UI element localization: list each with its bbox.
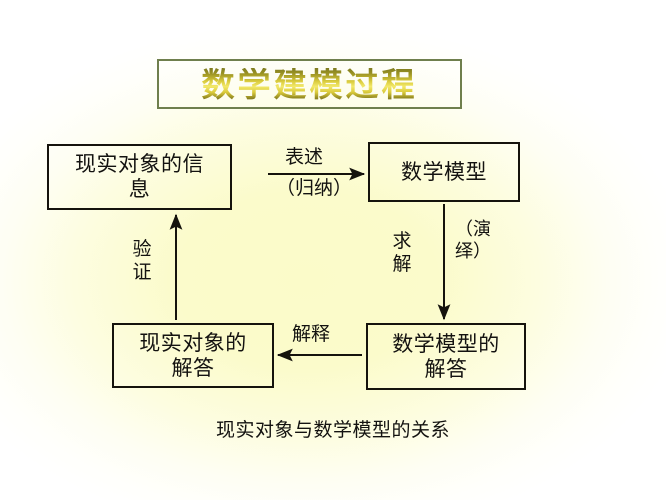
node-label: 现实对象的解答 [131,331,255,381]
node-label: 数学模型 [397,160,491,185]
arrow-label-verify: 验证 [131,238,153,284]
diagram-canvas: 数学建模过程 现实对象的信息 数学模型 现实对象的解答 数学模型的解答 表述 （… [0,0,666,500]
page-title: 数学建模过程 [202,68,418,101]
arrow-label-express: 表述 [285,147,323,168]
arrow-label-induction: （归纳） [276,178,352,199]
node-label: 现实对象的信息 [67,152,212,202]
node-label: 数学模型的解答 [384,332,508,382]
diagram-caption: 现实对象与数学模型的关系 [0,415,666,442]
title-box: 数学建模过程 [157,59,462,109]
node-math-model[interactable]: 数学模型 [368,142,520,202]
node-math-model-answer[interactable]: 数学模型的解答 [366,323,526,390]
node-real-object-info[interactable]: 现实对象的信息 [47,144,232,210]
arrow-label-deduction: （演绎） [455,219,477,263]
arrow-label-interpret: 解释 [292,324,330,345]
arrow-label-solve: 求解 [391,230,413,276]
node-real-object-answer[interactable]: 现实对象的解答 [112,323,274,388]
